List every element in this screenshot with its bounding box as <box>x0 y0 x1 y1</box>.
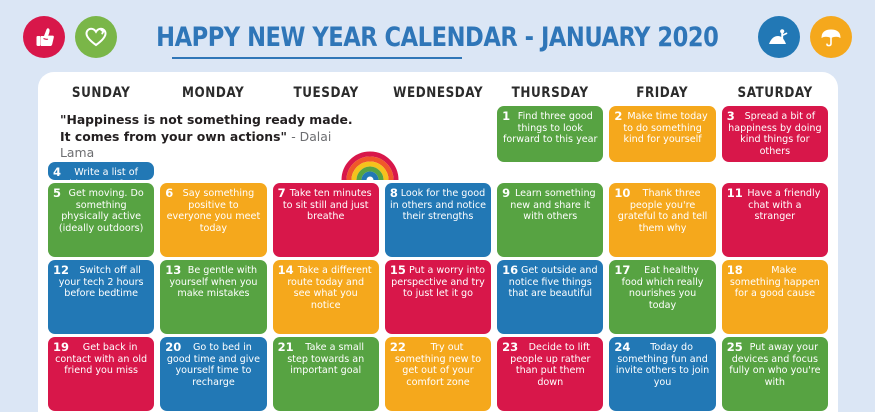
day-card-1[interactable]: 1Find three good things to look forward … <box>497 106 603 162</box>
week-row-3: 12Switch off all your tech 2 hours befor… <box>48 260 828 334</box>
day-number: 24 <box>614 341 630 354</box>
rainbow-icon <box>340 130 400 185</box>
day-card-18[interactable]: 18Make something happen for a good cause <box>722 260 828 334</box>
quote-text: "Happiness is not something ready made. … <box>60 112 360 162</box>
day-card-20[interactable]: 20Go to bed in good time and give yourse… <box>160 337 266 411</box>
day-number: 16 <box>502 264 518 277</box>
day-number: 12 <box>53 264 69 277</box>
day-card-6[interactable]: 6Say something positive to everyone you … <box>160 183 266 257</box>
day-activity-text: Look for the good in others and notice t… <box>389 188 487 223</box>
day-number: 23 <box>502 341 518 354</box>
day-number: 22 <box>390 341 406 354</box>
day-number: 15 <box>390 264 406 277</box>
day-number: 5 <box>53 187 61 200</box>
week-row-2: 5Get moving. Do something physically act… <box>48 183 828 257</box>
day-number: 3 <box>727 110 735 123</box>
day-number: 13 <box>165 264 181 277</box>
weekday-thursday: THURSDAY <box>501 85 599 101</box>
day-number: 8 <box>390 187 398 200</box>
day-card-12[interactable]: 12Switch off all your tech 2 hours befor… <box>48 260 154 334</box>
title-underline <box>172 57 462 59</box>
weekday-wednesday: WEDNESDAY <box>389 85 487 101</box>
day-activity-text: Write a list of things you feel grateful… <box>52 167 150 180</box>
day-number: 11 <box>727 187 743 200</box>
day-number: 10 <box>614 187 630 200</box>
day-number: 18 <box>727 264 743 277</box>
day-number: 1 <box>502 110 510 123</box>
week-row-1: "Happiness is not something ready made. … <box>48 106 828 180</box>
day-card-21[interactable]: 21Take a small step towards an important… <box>273 337 379 411</box>
day-number: 7 <box>278 187 286 200</box>
thumbs-up-icon <box>23 16 65 58</box>
day-activity-text: Take ten minutes to sit still and just b… <box>277 188 375 223</box>
calendar-panel: SUNDAY MONDAY TUESDAY WEDNESDAY THURSDAY… <box>38 72 838 412</box>
day-card-11[interactable]: 11Have a friendly chat with a stranger <box>722 183 828 257</box>
umbrella-icon <box>810 16 852 58</box>
page-header: HAPPY NEW YEAR CALENDAR - JANUARY 2020 <box>0 0 875 70</box>
day-activity-text: Make time today to do something kind for… <box>613 111 711 146</box>
day-card-7[interactable]: 7Take ten minutes to sit still and just … <box>273 183 379 257</box>
weekday-saturday: SATURDAY <box>726 85 824 101</box>
day-card-5[interactable]: 5Get moving. Do something physically act… <box>48 183 154 257</box>
day-activity-text: Say something positive to everyone you m… <box>164 188 262 235</box>
quote-cell: "Happiness is not something ready made. … <box>48 106 491 162</box>
week-row-4: 19Get back in contact with an old friend… <box>48 337 828 411</box>
day-number: 19 <box>53 341 69 354</box>
day-number: 4 <box>53 166 61 179</box>
weekday-tuesday: TUESDAY <box>277 85 375 101</box>
day-card-23[interactable]: 23Decide to lift people up rather than p… <box>497 337 603 411</box>
day-number: 6 <box>165 187 173 200</box>
page-title: HAPPY NEW YEAR CALENDAR - JANUARY 2020 <box>149 22 726 53</box>
day-number: 21 <box>278 341 294 354</box>
day-card-8[interactable]: 8Look for the good in others and notice … <box>385 183 491 257</box>
day-activity-text: Find three good things to look forward t… <box>501 111 599 146</box>
day-card-15[interactable]: 15Put a worry into perspective and try t… <box>385 260 491 334</box>
weekday-sunday: SUNDAY <box>52 85 150 101</box>
day-activity-text: Learn something new and share it with ot… <box>501 188 599 223</box>
weekday-friday: FRIDAY <box>614 85 712 101</box>
day-number: 9 <box>502 187 510 200</box>
day-card-10[interactable]: 10Thank three people you're grateful to … <box>609 183 715 257</box>
person-stretching-icon <box>758 16 800 58</box>
day-card-14[interactable]: 14Take a different route today and see w… <box>273 260 379 334</box>
day-card-17[interactable]: 17Eat healthy food which really nourishe… <box>609 260 715 334</box>
day-card-25[interactable]: 25Put away your devices and focus fully … <box>722 337 828 411</box>
day-activity-text: Get moving. Do something physically acti… <box>52 188 150 235</box>
day-card-13[interactable]: 13Be gentle with yourself when you make … <box>160 260 266 334</box>
day-card-22[interactable]: 22Try out something new to get out of yo… <box>385 337 491 411</box>
day-number: 25 <box>727 341 743 354</box>
day-card-3[interactable]: 3Spread a bit of happiness by doing kind… <box>722 106 828 162</box>
day-number: 20 <box>165 341 181 354</box>
day-number: 2 <box>614 110 622 123</box>
heart-recycle-icon <box>75 16 117 58</box>
day-activity-text: Spread a bit of happiness by doing kind … <box>726 111 824 158</box>
day-card-4[interactable]: 4Write a list of things you feel gratefu… <box>48 162 154 180</box>
day-card-19[interactable]: 19Get back in contact with an old friend… <box>48 337 154 411</box>
day-number: 14 <box>278 264 294 277</box>
day-card-2[interactable]: 2Make time today to do something kind fo… <box>609 106 715 162</box>
weekday-header-row: SUNDAY MONDAY TUESDAY WEDNESDAY THURSDAY… <box>48 80 828 106</box>
weekday-monday: MONDAY <box>165 85 263 101</box>
day-card-24[interactable]: 24Today do something fun and invite othe… <box>609 337 715 411</box>
day-card-16[interactable]: 16Get outside and notice five things tha… <box>497 260 603 334</box>
day-number: 17 <box>614 264 630 277</box>
day-card-9[interactable]: 9Learn something new and share it with o… <box>497 183 603 257</box>
